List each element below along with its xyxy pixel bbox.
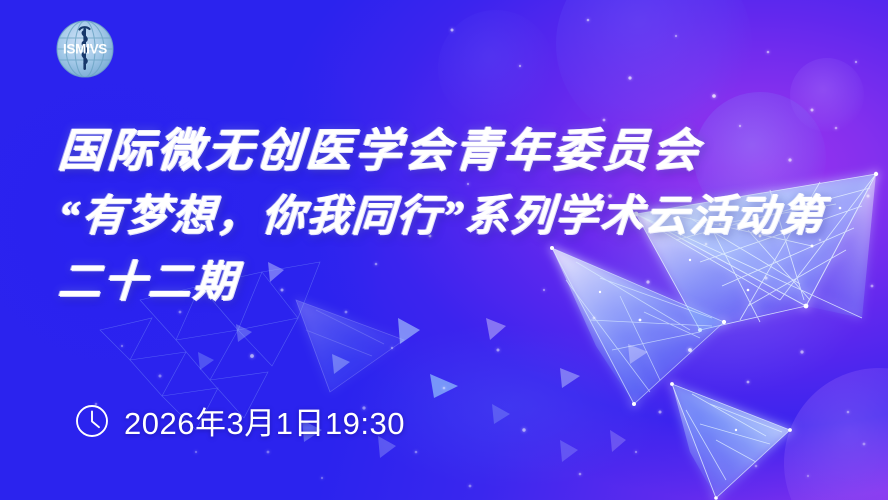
page-title: 国际微无创医学会青年委员会 “有梦想，你我同行”系列学术云活动第 二十二期 <box>58 118 858 316</box>
logo-wordmark: ISMIVS <box>63 42 107 57</box>
event-datetime: 2026年3月1日19:30 <box>74 398 405 443</box>
datetime-text: 2026年3月1日19:30 <box>124 398 405 443</box>
ismivs-logo: ISMIVS <box>53 17 117 81</box>
event-poster: ISMIVS 国际微无创医学会青年委员会 “有梦想，你我同行”系列学术云活动第 … <box>0 0 888 500</box>
title-line-3: 二十二期 <box>56 250 861 316</box>
clock-icon <box>74 403 110 439</box>
title-line-2: “有梦想，你我同行”系列学术云活动第 <box>56 184 861 250</box>
title-line-1: 国际微无创医学会青年委员会 <box>56 118 861 184</box>
